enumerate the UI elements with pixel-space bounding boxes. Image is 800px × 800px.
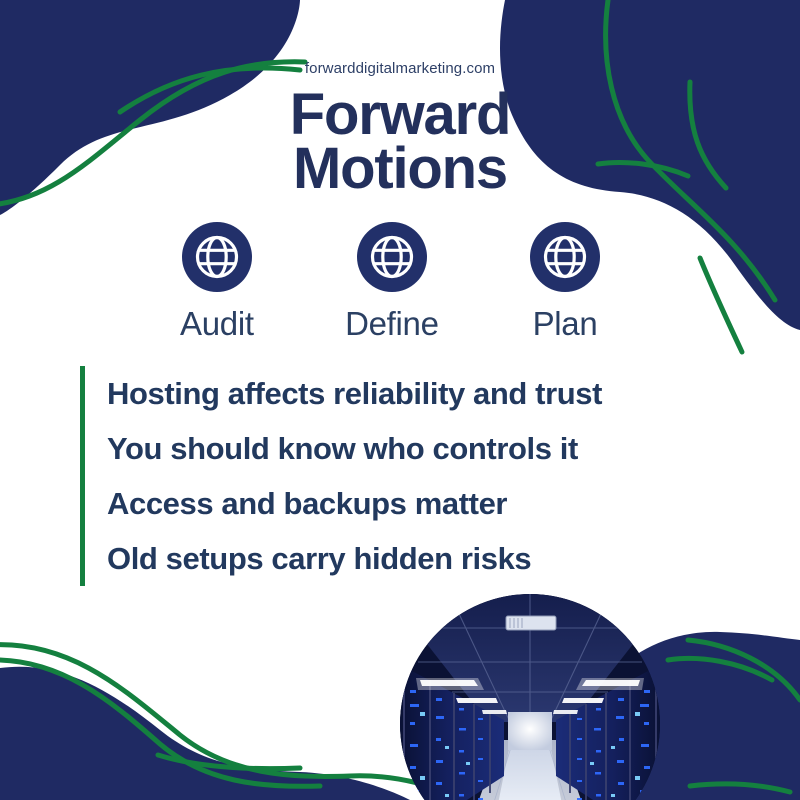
- website-url[interactable]: forwarddigitalmarketing.com: [0, 60, 800, 77]
- list-item: You should know who controls it: [107, 421, 740, 476]
- step-item-audit[interactable]: Audit: [180, 222, 254, 342]
- step-label-plan: Plan: [533, 306, 598, 342]
- step-label-define: Define: [345, 306, 439, 342]
- step-icon-row: Audit Define P: [180, 222, 600, 342]
- top-right-green-wave-3: [700, 258, 742, 352]
- title-line-1: Forward: [0, 88, 800, 142]
- list-item: Hosting affects reliability and trust: [107, 366, 740, 421]
- bottom-left-green-wave-1: [0, 645, 460, 800]
- globe-icon: [530, 222, 600, 292]
- step-item-plan[interactable]: Plan: [530, 222, 600, 342]
- bullet-list: Hosting affects reliability and trust Yo…: [80, 366, 740, 586]
- bottom-right-green-wave-3: [690, 784, 790, 792]
- bottom-left-navy-blob: [0, 667, 410, 800]
- bottom-left-green-wave-2: [0, 660, 320, 786]
- bottom-right-green-wave-2: [668, 658, 772, 680]
- list-item: Access and backups matter: [107, 476, 740, 531]
- bottom-left-green-wave-3: [158, 755, 300, 769]
- globe-icon: [357, 222, 427, 292]
- bottom-right-green-wave-1: [688, 640, 800, 700]
- step-label-audit: Audit: [180, 306, 254, 342]
- datacenter-photo: [400, 594, 660, 800]
- poster-canvas: forwarddigitalmarketing.com Forward Moti…: [0, 0, 800, 800]
- title-line-2: Motions: [0, 142, 800, 196]
- step-item-define[interactable]: Define: [345, 222, 439, 342]
- globe-icon: [182, 222, 252, 292]
- list-item: Old setups carry hidden risks: [107, 531, 740, 586]
- page-title: Forward Motions: [0, 88, 800, 196]
